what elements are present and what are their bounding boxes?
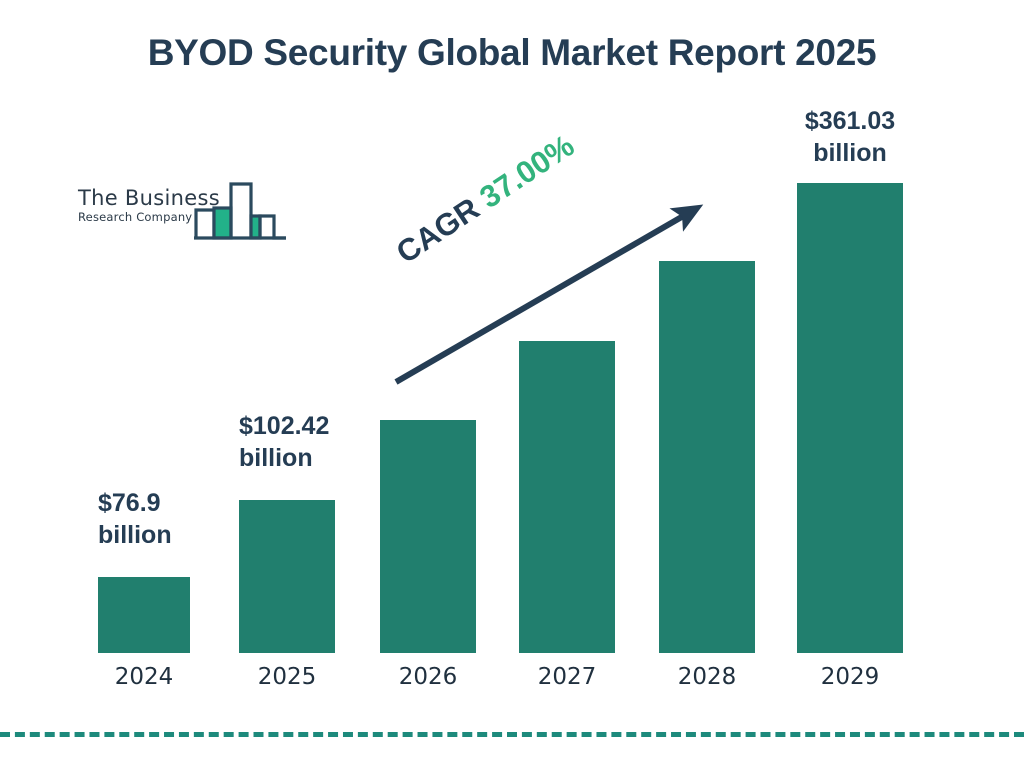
growth-arrow-icon [0,0,1024,768]
bar-chart-plot-area: $76.9 billion $102.42 billion $361.03 bi… [0,0,1024,768]
footer-divider [0,732,1024,737]
chart-canvas: BYOD Security Global Market Report 2025 … [0,0,1024,768]
